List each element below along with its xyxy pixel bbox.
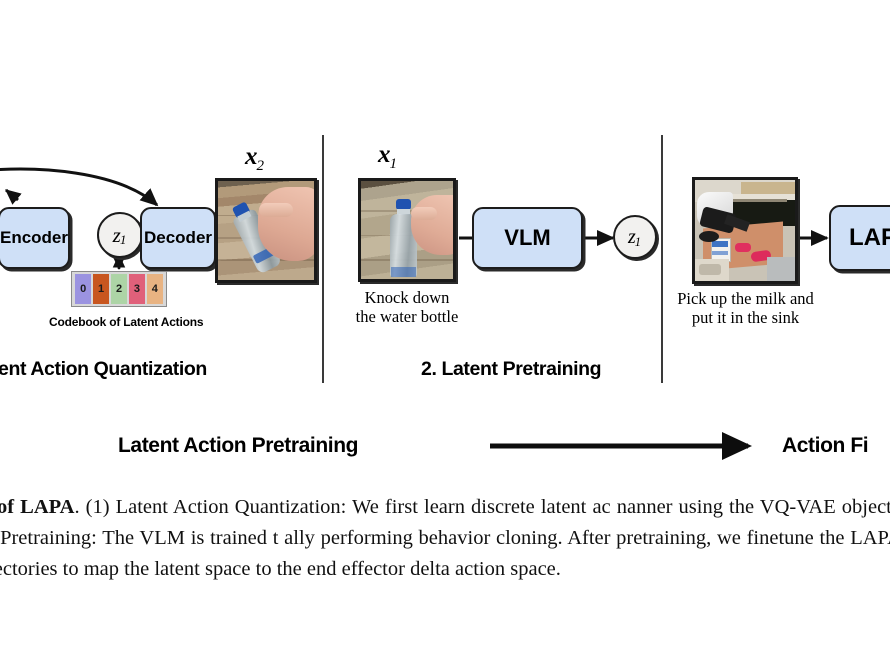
encoder-input-arrow-top [6,190,18,200]
x-symbol: x [245,143,258,170]
photo-robot-kitchen [692,177,798,284]
stage-label-finetuning: Action Fi [782,434,868,458]
lapa-box: LAP [829,205,890,271]
encoder-label: Encoder [0,228,68,248]
x-subscript: 1 [390,156,398,172]
lapa-label: LAP [849,224,890,252]
codebook-strip: 0 1 2 3 4 [71,271,167,307]
caption-line-4: ed trajectories to map the latent space … [0,558,561,580]
latent-code-circle-1: z1 [97,212,143,258]
codebook-cell-0: 0 [75,274,91,304]
photo-caption-knock-down: Knock down the water bottle [332,288,482,326]
codebook-cell-2: 2 [111,274,127,304]
image-label-x1: x1 [378,141,398,169]
stage-arrow-layer [0,420,890,480]
section-divider-1 [322,135,324,383]
caption-bold-lead: rview of LAPA [0,496,74,518]
decoder-box: Decoder [140,207,216,269]
vlm-box: VLM [472,207,583,269]
latent-code-circle-2: z1 [613,215,657,259]
photo-bottle-upright [358,178,456,282]
photo-bottle-knocked-down [215,178,317,283]
figure-caption: rview of LAPA. (1) Latent Action Quantiz… [0,492,890,585]
vlm-label: VLM [504,225,550,251]
codebook-cell-3: 3 [129,274,145,304]
caption-line-3: ally performing behavior cloning. After … [284,527,890,549]
image-label-x2: x2 [245,143,265,171]
caption-line-1-rest: . (1) Latent Action Quantization: We fir… [74,496,610,518]
encoder-box: Encoder [0,207,70,269]
codebook-caption: Codebook of Latent Actions [49,315,191,329]
codebook-group: 0 1 2 3 4 Codebook of Latent Actions [71,271,167,307]
photo-caption-pick-up-milk: Pick up the milk and put it in the sink [668,289,823,327]
x-subscript: 2 [257,158,265,174]
section-divider-2 [661,135,663,383]
latent-subscript: 1 [635,235,641,250]
codebook-cell-4: 4 [147,274,163,304]
section-title-quantization: ent Action Quantization [0,358,207,381]
figure-diagram: Encoder z1 Decoder x2 0 [0,0,890,480]
decoder-label: Decoder [144,228,212,248]
codebook-cell-1: 1 [93,274,109,304]
latent-subscript: 1 [120,232,127,248]
x-symbol: x [378,141,391,168]
section-title-pretraining: 2. Latent Pretraining [421,358,601,381]
skip-connection-arrow [0,169,157,205]
caption-line-1: rview of LAPA. (1) Latent Action Quantiz… [0,496,611,518]
